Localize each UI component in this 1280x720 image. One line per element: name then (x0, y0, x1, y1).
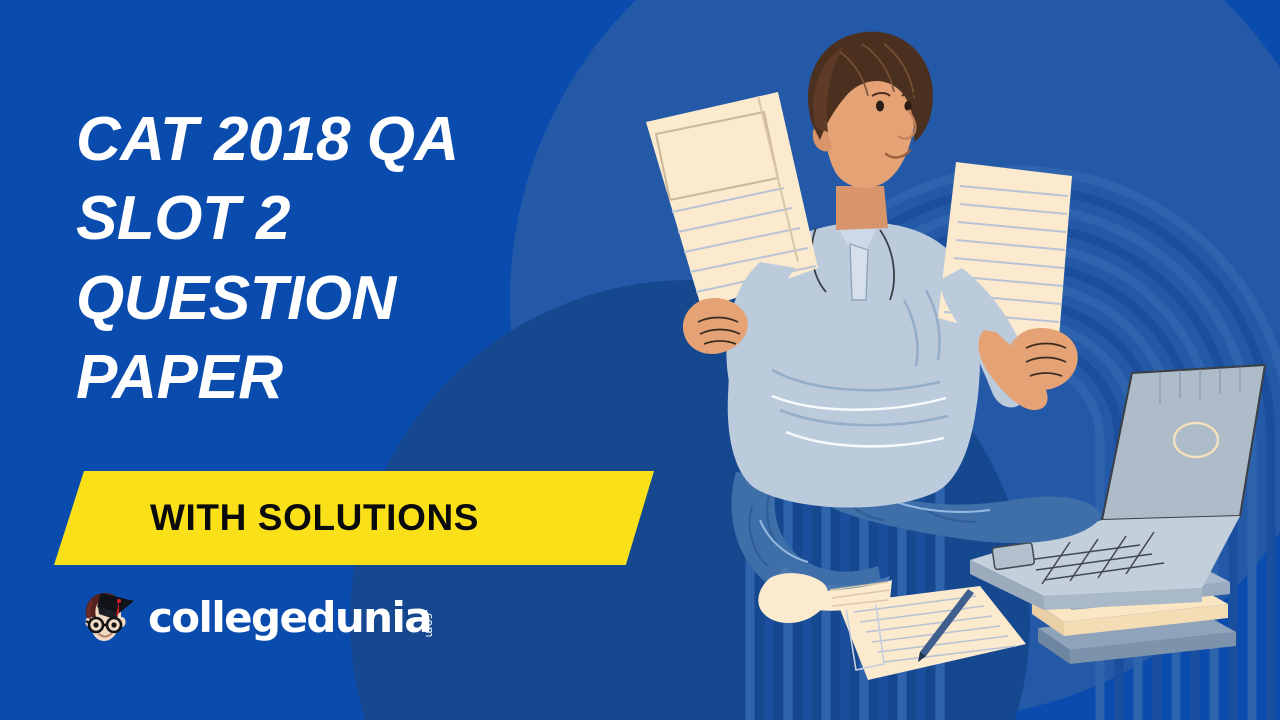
ribbon-label: WITH SOLUTIONS (150, 497, 479, 539)
logo-wordmark: collegedunia .com (148, 597, 465, 639)
with-solutions-ribbon: WITH SOLUTIONS (54, 471, 654, 565)
collegedunia-mascot-icon (74, 587, 136, 649)
logo-tld-text: .com (423, 609, 436, 638)
student-reading-papers-illustration (640, 0, 1280, 720)
banner-canvas: CAT 2018 QA SLOT 2 QUESTION PAPER WITH S… (0, 0, 1280, 720)
collegedunia-logo[interactable]: collegedunia .com (74, 584, 465, 652)
logo-name-text: collegedunia (148, 597, 431, 639)
student-head (808, 32, 933, 230)
page-title: CAT 2018 QA SLOT 2 QUESTION PAPER (76, 100, 696, 417)
